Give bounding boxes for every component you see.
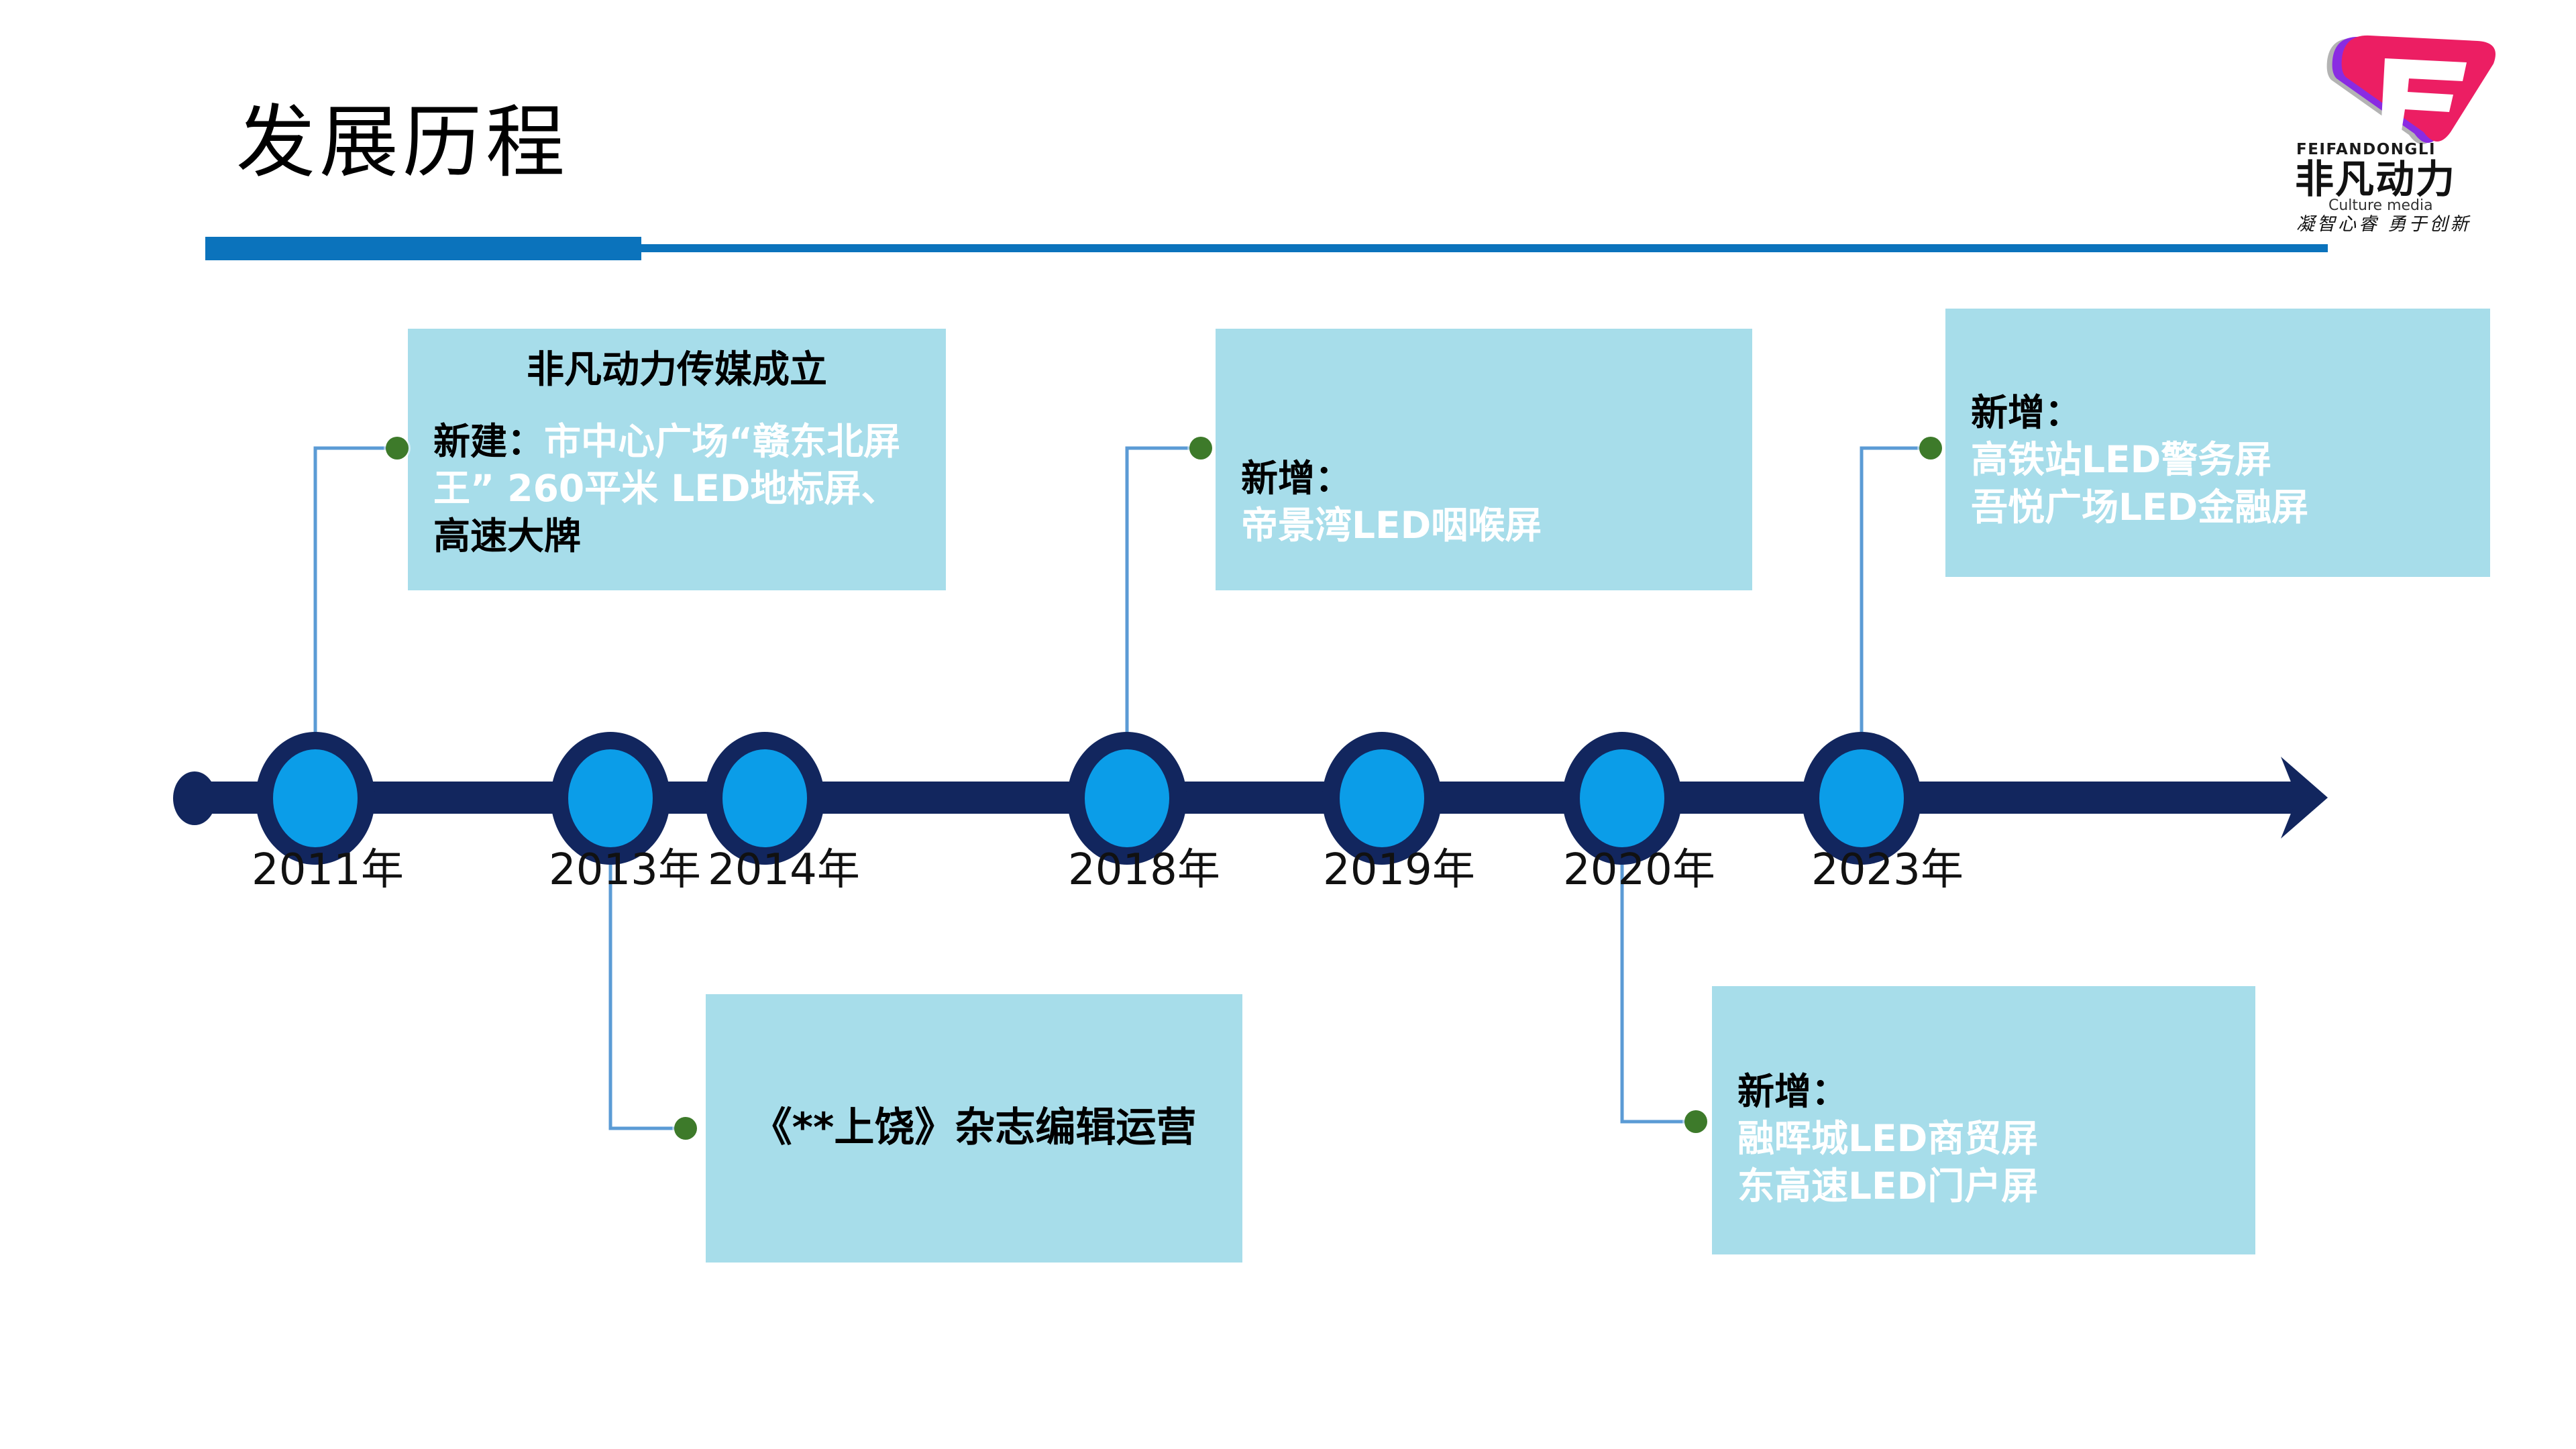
callout-2011-kicker: 新建： xyxy=(433,420,544,463)
callout-2013-marker-dot xyxy=(674,1117,697,1140)
year-label-2014: 2014年 xyxy=(708,849,860,892)
callout-2023-kicker: 新增： xyxy=(1971,389,2465,436)
callout-2020-white-text-1: 融晖城LED商贸屏 xyxy=(1737,1115,2230,1162)
callout-2013-text: 《**上饶》杂志编辑运营 xyxy=(731,1102,1217,1154)
callout-shadow xyxy=(419,590,959,628)
callout-shadow xyxy=(1723,1254,2269,1292)
timeline-node-2023[interactable] xyxy=(1819,749,1904,847)
connector-2011 xyxy=(315,448,394,757)
connector-2018 xyxy=(1127,448,1198,757)
page-title: 发展历程 xyxy=(236,99,569,186)
timeline-node-2014[interactable] xyxy=(722,749,807,847)
timeline-axis xyxy=(173,757,2328,839)
title-underline-block xyxy=(205,237,641,260)
callout-2020[interactable]: 新增： 融晖城LED商贸屏 东高速LED门户屏 xyxy=(1712,986,2255,1254)
callout-2011-black-text: 高速大牌 xyxy=(433,515,581,557)
callout-2018[interactable]: 新增： 帝景湾LED咽喉屏 xyxy=(1216,329,1752,590)
callout-2020-kicker: 新增： xyxy=(1737,1068,2230,1115)
callout-2023-white-text-2: 吾悦广场LED金融屏 xyxy=(1971,484,2465,531)
title-underline-line xyxy=(637,244,2328,252)
logo-name-cn: 非凡动力 xyxy=(2295,156,2456,202)
callout-2023-marker-dot xyxy=(1919,437,1942,460)
callout-2018-white-text: 帝景湾LED咽喉屏 xyxy=(1241,502,1727,549)
callout-2013[interactable]: 《**上饶》杂志编辑运营 xyxy=(706,994,1242,1263)
callout-2018-kicker: 新增： xyxy=(1241,455,1727,502)
year-label-2011: 2011年 xyxy=(252,849,404,892)
callout-2011-heading: 非凡动力传媒成立 xyxy=(433,346,920,395)
timeline-node-2020[interactable] xyxy=(1580,749,1664,847)
year-label-2020: 2020年 xyxy=(1563,849,1715,892)
callout-2011[interactable]: 非凡动力传媒成立 新建：市中心广场“赣东北屏王” 260平米 LED地标屏、高速… xyxy=(408,329,946,590)
timeline-node-2019[interactable] xyxy=(1340,749,1424,847)
callout-2011-marker-dot xyxy=(386,437,409,460)
callout-2018-marker-dot xyxy=(1189,437,1212,460)
connector-2023 xyxy=(1862,448,1928,757)
year-label-2018: 2018年 xyxy=(1068,849,1220,892)
axis-bar xyxy=(195,782,2301,814)
timeline-node-2013[interactable] xyxy=(568,749,653,847)
callout-2023-white-text-1: 高铁站LED警务屏 xyxy=(1971,436,2465,483)
axis-arrowhead xyxy=(2281,757,2328,839)
callout-2013-body: 《**上饶》杂志编辑运营 xyxy=(706,994,1242,1171)
callout-shadow xyxy=(716,1263,1256,1300)
callout-2023[interactable]: 新增： 高铁站LED警务屏 吾悦广场LED金融屏 xyxy=(1945,309,2490,577)
timeline-node-2011[interactable] xyxy=(273,749,358,847)
callout-2018-body: 新增： 帝景湾LED咽喉屏 xyxy=(1216,329,1752,567)
year-label-2013: 2013年 xyxy=(549,849,701,892)
year-label-2019: 2019年 xyxy=(1323,849,1475,892)
axis-start-cap xyxy=(173,771,216,825)
callout-2011-body: 非凡动力传媒成立 新建：市中心广场“赣东北屏王” 260平米 LED地标屏、高速… xyxy=(408,329,946,577)
slide-canvas: 发展历程 FEIFANDONGLI 非凡动力 Culture media 凝智心… xyxy=(0,0,2576,1449)
company-logo: FEIFANDONGLI 非凡动力 Culture media 凝智心睿 勇于创… xyxy=(2291,17,2553,231)
callout-2023-body: 新增： 高铁站LED警务屏 吾悦广场LED金融屏 xyxy=(1945,309,2490,548)
logo-tagline-cn: 凝智心睿 勇于创新 xyxy=(2296,214,2471,231)
logo-mark-icon: FEIFANDONGLI 非凡动力 Culture media 凝智心睿 勇于创… xyxy=(2291,17,2553,231)
callout-2020-white-text-2: 东高速LED门户屏 xyxy=(1737,1163,2230,1210)
timeline-node-2018[interactable] xyxy=(1085,749,1169,847)
callout-shadow xyxy=(1226,590,1766,628)
logo-tagline-en: Culture media xyxy=(2328,197,2433,214)
callout-2020-body: 新增： 融晖城LED商贸屏 东高速LED门户屏 xyxy=(1712,986,2255,1227)
callout-2020-marker-dot xyxy=(1684,1110,1707,1133)
callout-shadow xyxy=(1956,577,2504,614)
year-label-2023: 2023年 xyxy=(1811,849,1964,892)
